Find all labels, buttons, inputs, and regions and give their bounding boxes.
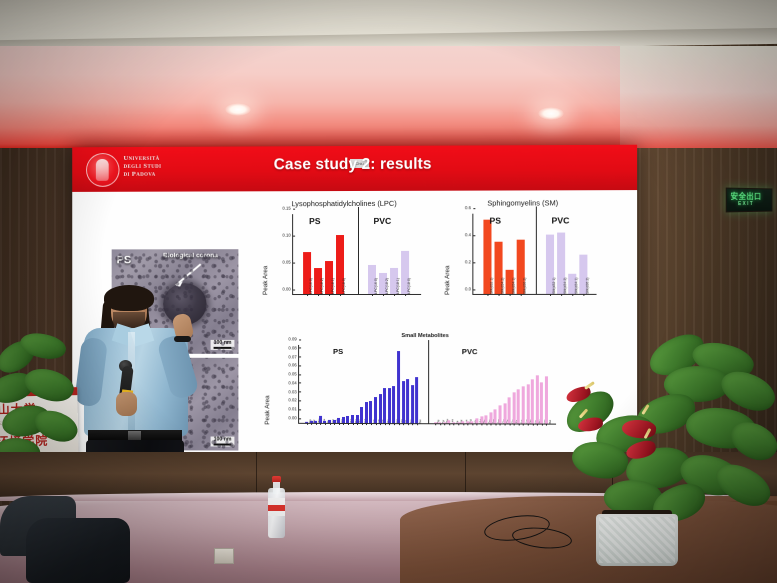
bar: [415, 377, 418, 423]
chart-sm-title: Sphingomyelins (SM): [438, 198, 608, 208]
x-tick-label: LPC(18:0): [342, 278, 346, 294]
presenter-hand-left: [116, 392, 137, 416]
x-tick-label: SM(d34:2): [563, 277, 567, 293]
x-tick-label: SM(d34:1): [574, 277, 578, 293]
x-axis-tick: [572, 294, 573, 296]
downlight-icon: [538, 107, 564, 120]
x-axis-tick: [311, 423, 312, 425]
x-axis-tick: [383, 294, 384, 296]
bar: [351, 415, 354, 423]
x-axis-tick: [329, 294, 330, 296]
bar: [522, 386, 525, 423]
x-axis-tick: [444, 423, 445, 425]
y-tick-label: 0.01: [288, 407, 299, 412]
x-axis-tick: [514, 423, 515, 425]
x-axis-tick: [486, 423, 487, 425]
x-axis-tick: [521, 294, 522, 296]
x-axis-tick: [348, 423, 349, 425]
wristwatch: [174, 336, 191, 342]
x-tick-label: SM(d36:2): [523, 277, 527, 293]
scale-bar: 100 nm: [211, 340, 235, 350]
bar: [540, 382, 543, 423]
slide-header-band: Università degli Studi di Padova Chiu Ca…: [72, 145, 637, 192]
bar: [397, 351, 400, 423]
y-tick-label: 0.00: [282, 287, 293, 292]
x-axis-tick: [405, 294, 406, 296]
x-axis-tick: [334, 423, 335, 425]
x-axis-tick: [458, 423, 459, 425]
chart-lpc: Lysophosphatidylcholines (LPC) Peak Area…: [256, 199, 432, 339]
x-axis-tick: [412, 423, 413, 425]
x-axis-tick: [505, 423, 506, 425]
plant-right: [552, 338, 777, 583]
bar: [365, 402, 368, 423]
y-tick-label: 0.4: [465, 232, 473, 237]
bar: [319, 415, 322, 422]
bar: [383, 388, 386, 423]
y-tick-label: 0.06: [288, 363, 299, 368]
x-axis-tick: [510, 294, 511, 296]
x-tick-label: LPC(18:2): [385, 278, 389, 294]
x-axis-tick: [403, 423, 404, 425]
y-tick-label: 0.05: [288, 372, 299, 377]
group-label-pvc: PVC: [462, 347, 478, 356]
chart-sm-metab-title: Small Metabolites: [260, 333, 591, 339]
water-bottle: [268, 476, 285, 538]
chart-lpc-ylabel: Peak Area: [262, 266, 269, 295]
bar: [536, 375, 539, 424]
bar: [545, 377, 548, 424]
x-axis-tick: [325, 423, 326, 425]
bar: [517, 389, 520, 423]
x-axis-tick: [481, 423, 482, 425]
scale-bar-2: 100 nm: [211, 436, 235, 446]
group-label-ps: PS: [333, 347, 343, 356]
bar: [508, 397, 511, 423]
x-axis-tick: [583, 294, 584, 296]
x-tick-label: LPC(18:1): [331, 278, 335, 294]
bar: [526, 384, 529, 424]
bar: [374, 397, 377, 423]
y-tick-label: 0.09: [288, 336, 299, 341]
x-tick-label: Bet: [419, 419, 422, 423]
x-axis-tick: [487, 294, 488, 296]
group-label-ps: PS: [309, 216, 320, 226]
photo-scene: 安全出口 EXIT Università degli Studi di Pado…: [0, 0, 777, 583]
belt-buckle: [128, 431, 141, 440]
x-tick-label: SM(d32:1): [552, 277, 556, 293]
x-axis-tick: [318, 294, 319, 296]
x-axis-tick: [509, 423, 510, 425]
corona-annotation: Biological corona: [163, 252, 218, 259]
wall-socket: [214, 548, 234, 564]
flower-pot: [596, 514, 678, 566]
group-divider: [357, 207, 358, 294]
group-divider: [428, 340, 429, 423]
x-axis-tick: [371, 423, 372, 425]
x-axis-tick: [353, 423, 354, 425]
group-label-pvc: PVC: [552, 215, 570, 225]
bar: [406, 379, 409, 423]
x-axis-tick: [463, 423, 464, 425]
x-axis-tick: [532, 424, 533, 426]
group-divider: [535, 206, 536, 294]
y-tick-label: 0.05: [282, 260, 293, 265]
y-tick-label: 0.08: [288, 345, 299, 350]
x-axis-tick: [380, 423, 381, 425]
bottle-label: [268, 498, 285, 516]
x-axis-tick: [394, 423, 395, 425]
bar: [494, 410, 497, 424]
y-tick-label: 0.02: [288, 398, 299, 403]
x-tick-label: SM(d34:2): [501, 278, 505, 294]
chart-sm: Sphingomyelins (SM) Peak Area 0.00.20.40…: [438, 198, 608, 339]
y-tick-label: 0.2: [465, 259, 473, 264]
exit-sign: 安全出口 EXIT: [726, 188, 773, 213]
x-axis-tick: [376, 423, 377, 425]
presenter-hair: [104, 285, 154, 311]
y-tick-label: 0.04: [288, 380, 299, 385]
x-axis-tick: [320, 423, 321, 425]
x-axis-tick: [340, 294, 341, 296]
bar: [531, 379, 534, 423]
tem-group-label: PS: [117, 254, 132, 266]
exit-sign-english: EXIT: [738, 201, 754, 207]
chart-small-metabolites: Small Metabolites Peak Area 0.000.010.02…: [260, 333, 591, 462]
x-axis-tick: [385, 423, 386, 425]
x-tick-label: LPC(16:0): [309, 278, 313, 294]
x-axis-tick: [499, 294, 500, 296]
x-axis-tick: [366, 423, 367, 425]
x-axis-tick: [394, 294, 395, 296]
x-axis-tick: [357, 423, 358, 425]
x-axis-tick: [491, 423, 492, 425]
bar: [402, 381, 405, 423]
x-axis-tick: [339, 423, 340, 425]
bar: [360, 407, 363, 423]
group-label-pvc: PVC: [374, 216, 392, 226]
x-axis-tick: [561, 294, 562, 296]
backpack: [26, 518, 130, 583]
x-axis-tick: [417, 423, 418, 425]
y-tick-label: 0.07: [288, 354, 299, 359]
y-tick-label: 0.10: [282, 233, 293, 238]
y-tick-label: 0.15: [282, 206, 293, 211]
x-axis-tick: [399, 423, 400, 425]
bar: [392, 386, 395, 423]
x-axis-tick: [372, 294, 373, 296]
x-tick-label: SM(d32:1): [490, 278, 494, 294]
x-tick-label: LPC(18:2): [320, 278, 324, 294]
x-axis-tick: [408, 423, 409, 425]
x-axis-tick: [307, 423, 308, 425]
x-tick-label: LPC(18:0): [407, 278, 411, 294]
x-axis-tick: [307, 294, 308, 296]
x-axis-tick: [362, 423, 363, 425]
x-axis-tick: [472, 423, 473, 425]
group-label-ps: PS: [489, 216, 501, 226]
x-axis-tick: [500, 423, 501, 425]
leaf: [20, 362, 78, 409]
x-axis-tick: [389, 423, 390, 425]
x-axis-tick: [440, 423, 441, 425]
x-axis-tick: [523, 424, 524, 426]
y-tick-label: 0.00: [288, 415, 299, 420]
x-axis-tick: [528, 424, 529, 426]
x-tick-label: SM(d36:2): [585, 277, 589, 293]
scale-bar-label: 100 nm: [214, 340, 232, 346]
x-axis-tick: [449, 423, 450, 425]
annotation-arrow-icon: [169, 262, 203, 288]
x-axis-tick: [546, 424, 547, 426]
x-axis-tick: [477, 423, 478, 425]
x-axis-tick: [537, 424, 538, 426]
ceiling-glow-right: [620, 46, 777, 148]
x-tick-label: SM(d34:1): [512, 278, 516, 294]
x-axis-tick: [343, 423, 344, 425]
downlight-icon: [225, 103, 251, 116]
x-tick-label: LPC(18:1): [396, 278, 400, 294]
x-axis-tick: [330, 423, 331, 425]
bar: [411, 385, 414, 423]
x-axis-tick: [468, 423, 469, 425]
x-tick-label: LPC(16:0): [374, 278, 378, 294]
chart-sm-plot: 0.00.20.40.6SM(d32:1)SM(d34:2)SM(d34:1)S…: [472, 213, 596, 295]
bar: [485, 415, 488, 423]
scale-bar-label-2: 100 nm: [214, 436, 232, 442]
chart-lpc-plot: 0.000.050.100.15LPC(16:0)LPC(18:2)LPC(18…: [292, 214, 421, 295]
x-axis-tick: [549, 294, 550, 296]
x-axis-tick: [316, 423, 317, 425]
x-axis-tick: [519, 424, 520, 426]
slide-title: Case study 2: results: [72, 155, 637, 175]
bar: [498, 405, 501, 423]
x-axis-tick: [454, 423, 455, 425]
y-tick-label: 0.03: [288, 389, 299, 394]
chart-sm-metab-ylabel: Peak Area: [264, 395, 271, 424]
y-tick-label: 0.0: [465, 286, 473, 291]
y-tick-label: 0.6: [465, 205, 473, 210]
x-axis-tick: [435, 423, 436, 425]
chart-sm-metab-plot: 0.000.010.020.030.040.050.060.070.080.09…: [298, 345, 556, 425]
chart-sm-ylabel: Peak Area: [444, 265, 451, 295]
bar: [388, 388, 391, 423]
x-axis-tick: [495, 423, 496, 425]
x-axis-tick: [542, 424, 543, 426]
